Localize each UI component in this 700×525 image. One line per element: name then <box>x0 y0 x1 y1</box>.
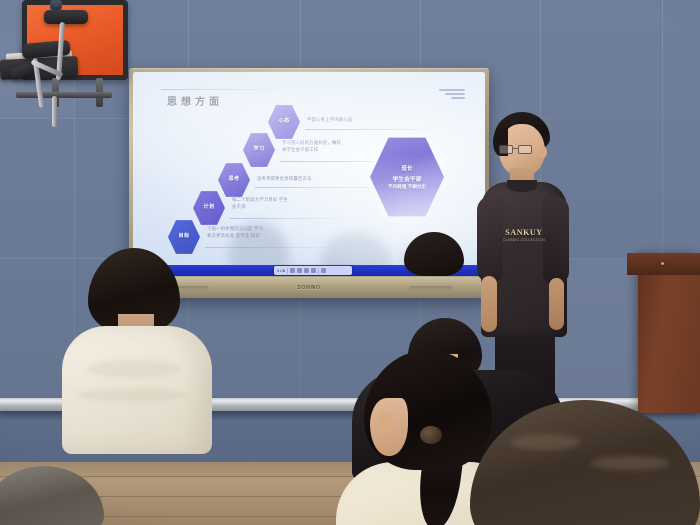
slide-title: 思想方面 <box>167 93 223 108</box>
slide-page-indicator: 1 / 8 <box>277 268 285 273</box>
hair-scrunchie <box>420 426 442 444</box>
foreground-grey-hair <box>0 466 104 525</box>
student-sweater <box>62 326 212 454</box>
wooden-door-frame <box>638 253 700 413</box>
focus-hexagon-line-2: 学生会干部 <box>393 174 422 183</box>
display-brand-label: SONWO <box>297 285 320 291</box>
hexagon-step-4-label: 计划 <box>204 205 215 211</box>
foreground-hair <box>470 400 700 525</box>
foreground-head-brown-hair <box>470 400 700 525</box>
step-1-text: 平常心考上不内耗心态 <box>307 117 352 124</box>
foreground-head-grey-hair <box>0 466 104 525</box>
audience-head-far <box>404 232 464 276</box>
pen-tool-icon[interactable] <box>297 268 302 273</box>
step-2-text: 学习别人好的方面补足，做好 本学生会干部工作 <box>282 140 341 154</box>
hexagon-step-3[interactable]: 思考 <box>218 162 250 198</box>
eraser-tool-icon[interactable] <box>311 268 316 273</box>
hexagon-step-5-label: 目标 <box>179 234 190 240</box>
seated-student-cream-sweater <box>52 248 242 448</box>
focus-hexagon-line-3: 不内耗强 不躺付出 <box>388 184 426 190</box>
shirt-graphic-text: SANKUY <box>493 228 555 237</box>
step-3-text: 思考考得更优秀的最佳方法 <box>257 176 312 183</box>
hexagon-step-2[interactable]: 学习 <box>243 132 275 168</box>
more-options-icon[interactable] <box>321 268 326 273</box>
hexagon-step-1[interactable]: 心态 <box>268 104 300 140</box>
pointer-tool-icon[interactable] <box>290 268 295 273</box>
classroom-scene: 思想方面 心态 平常心考上不内耗心态 学习 学习别人好的方面补足，做好 本学生会… <box>0 0 700 525</box>
step-4-text: 每二个阶段大学习目标 学生 会干部 <box>232 197 288 211</box>
focus-hexagon-line-1: 班长 <box>402 164 413 172</box>
hexagon-step-3-label: 思考 <box>229 177 240 183</box>
hexagon-step-4[interactable]: 计划 <box>193 190 225 226</box>
audience-far-hair <box>404 232 464 276</box>
presenter-ear <box>539 146 547 158</box>
eyeglasses-icon <box>499 145 533 154</box>
highlighter-tool-icon[interactable] <box>304 268 309 273</box>
shirt-graphic-subtext: CLASSIC COLLECTION <box>493 238 555 242</box>
hexagon-step-1-label: 心态 <box>279 119 290 125</box>
hexagon-step-2-label: 学习 <box>254 147 265 153</box>
presenter-collar <box>507 180 537 192</box>
powerpoint-toolbar[interactable]: 1 / 8 <box>274 266 352 275</box>
menu-lines-decoration-icon <box>439 89 465 101</box>
title-underline <box>161 89 287 90</box>
frame-screw <box>661 262 664 265</box>
student-ear <box>378 412 392 432</box>
